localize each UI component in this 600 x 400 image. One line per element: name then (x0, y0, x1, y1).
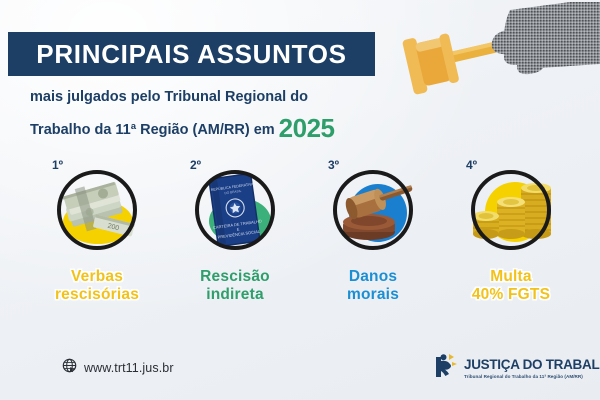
infographic-poster: PRINCIPAIS ASSUNTOS mais julgados pelo T… (0, 0, 600, 400)
topic-item-1[interactable]: 1º (34, 158, 160, 308)
topic-icon-holder (463, 166, 559, 262)
topic-icon-holder: 200 (49, 166, 145, 262)
topic-label-line-1: Rescisão (200, 268, 270, 285)
year-highlight: 2025 (279, 113, 335, 143)
globe-icon (62, 358, 77, 378)
topic-label: Rescisão indireta (172, 268, 298, 304)
subtitle: mais julgados pelo Tribunal Regional do … (30, 86, 410, 149)
subtitle-line-1: mais julgados pelo Tribunal Regional do (30, 89, 308, 105)
topic-ordinal: 2º (190, 158, 201, 172)
topic-item-3[interactable]: 3º (310, 158, 436, 308)
topic-icon-holder: REPÚBLICA FEDERATIVA DO BRASIL CARTEIRA … (187, 166, 283, 262)
justica-do-trabalho-emblem-icon (432, 352, 458, 385)
topic-ordinal: 1º (52, 158, 63, 172)
icon-ring (471, 170, 551, 250)
logo-secondary-text: Tribunal Regional do Trabalho da 11ª Reg… (464, 375, 600, 380)
topic-ordinal: 4º (466, 158, 477, 172)
topic-label-line-2: rescisórias (34, 286, 160, 304)
logo-text-block: JUSTIÇA DO TRABALHO Tribunal Regional do… (464, 357, 600, 380)
topic-label: Danos morais (310, 268, 436, 304)
topic-label-line-1: Verbas (71, 268, 123, 285)
logo-primary-text: JUSTIÇA DO TRABALHO (464, 357, 600, 372)
topic-icon-holder (325, 166, 421, 262)
topic-label-line-2: 40% FGTS (448, 286, 574, 304)
justica-do-trabalho-logo[interactable]: JUSTIÇA DO TRABALHO Tribunal Regional do… (432, 352, 600, 385)
topic-label-line-1: Danos (349, 268, 397, 285)
topics-list: 1º (34, 158, 574, 308)
topic-label: Verbas rescisórias (34, 268, 160, 304)
topic-item-4[interactable]: 4º (448, 158, 574, 308)
title-bar: PRINCIPAIS ASSUNTOS (8, 32, 375, 76)
topic-item-2[interactable]: 2º REPÚBLICA FEDERATIVA DO BRASIL CARTEI… (172, 158, 298, 308)
subtitle-line-2: Trabalho da 11ª Região (AM/RR) em (30, 122, 275, 138)
topic-label: Multa 40% FGTS (448, 268, 574, 304)
topic-label-line-2: indireta (172, 286, 298, 304)
icon-ring (57, 170, 137, 250)
page-title: PRINCIPAIS ASSUNTOS (36, 39, 346, 70)
icon-ring (333, 170, 413, 250)
topic-label-line-2: morais (310, 286, 436, 304)
website-url: www.trt11.jus.br (84, 361, 174, 375)
topic-ordinal: 3º (328, 158, 339, 172)
topic-label-line-1: Multa (490, 268, 531, 285)
website-link[interactable]: www.trt11.jus.br (62, 358, 174, 378)
icon-ring (195, 170, 275, 250)
gavel-in-hand-icon (390, 2, 600, 112)
